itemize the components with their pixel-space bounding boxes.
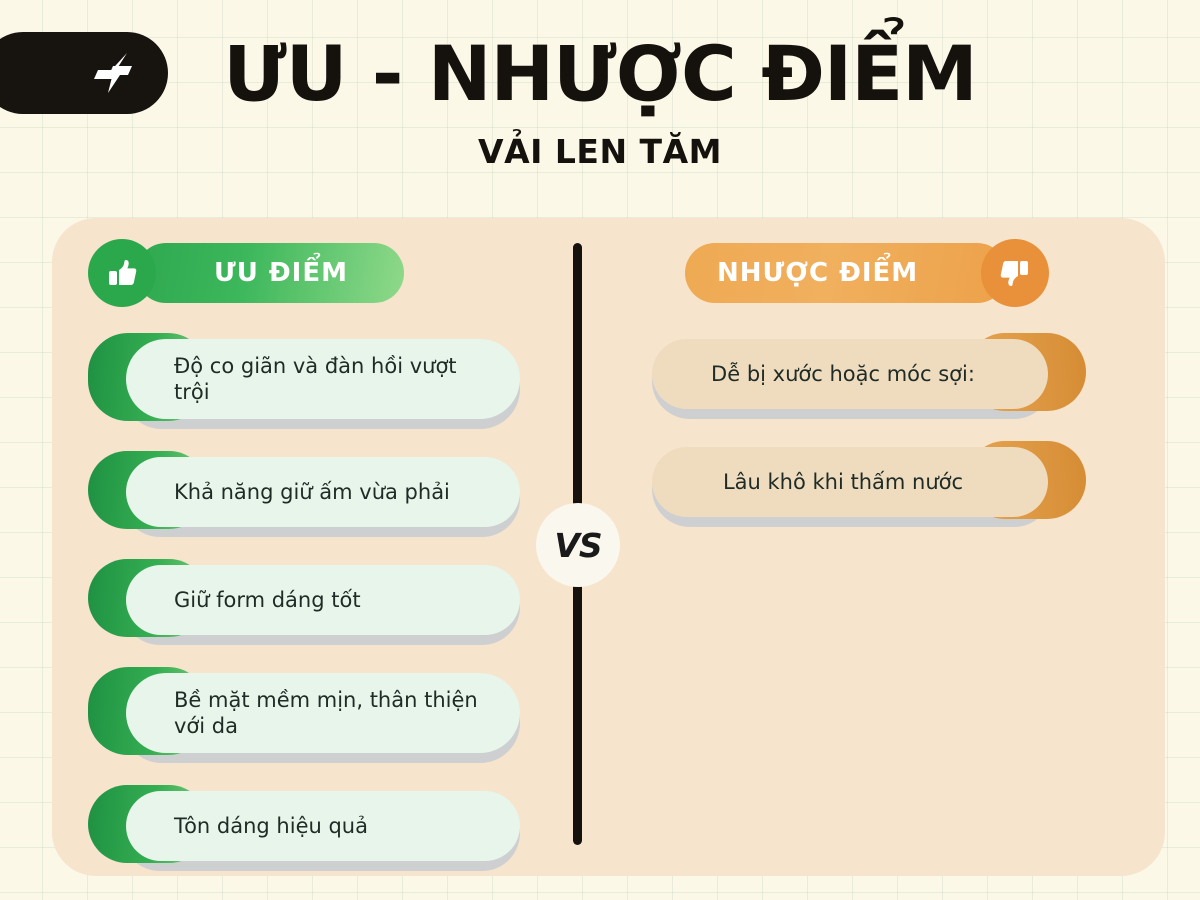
pros-item-body: Khả năng giữ ấm vừa phải — [126, 457, 520, 527]
cons-heading-badge: NHƯỢC ĐIỂM — [685, 243, 1007, 303]
cons-heading-label: NHƯỢC ĐIỂM — [717, 260, 918, 286]
page-subtitle: VẢI LEN TĂM — [0, 135, 1200, 168]
cons-item: Dễ bị xước hoặc móc sợi: — [652, 333, 1086, 411]
pros-heading-label: ƯU ĐIỂM — [214, 260, 348, 286]
cons-item: Lâu khô khi thấm nước — [652, 441, 1086, 519]
pros-item-body: Độ co giãn và đàn hồi vượt trội — [126, 339, 520, 419]
pros-item-text: Độ co giãn và đàn hồi vượt trội — [174, 353, 496, 406]
pros-item: Giữ form dáng tốt — [88, 559, 520, 637]
pros-item-text: Giữ form dáng tốt — [174, 587, 361, 613]
pros-heading-badge: ƯU ĐIỂM — [136, 243, 404, 303]
thumbs-up-icon — [88, 239, 156, 307]
pros-item: Tôn dáng hiệu quả — [88, 785, 520, 863]
vs-badge: VS — [536, 503, 620, 587]
pros-item-body: Tôn dáng hiệu quả — [126, 791, 520, 861]
cons-column: NHƯỢC ĐIỂM Dễ bị xước hoặc móc sợi: Lâu … — [652, 243, 1086, 519]
thumbs-down-icon — [981, 239, 1049, 307]
pros-item-body: Giữ form dáng tốt — [126, 565, 520, 635]
cons-item-text: Lâu khô khi thấm nước — [723, 469, 963, 495]
pros-item: Độ co giãn và đàn hồi vượt trội — [88, 333, 520, 421]
pros-item-text: Tôn dáng hiệu quả — [174, 813, 368, 839]
pros-item: Khả năng giữ ấm vừa phải — [88, 451, 520, 529]
cons-item-text: Dễ bị xước hoặc móc sợi: — [711, 361, 975, 387]
page-title: ƯU - NHƯỢC ĐIỂM — [0, 36, 1200, 112]
pros-item-text: Bề mặt mềm mịn, thân thiện với da — [174, 687, 496, 740]
pros-item-body: Bề mặt mềm mịn, thân thiện với da — [126, 673, 520, 753]
vs-label: VS — [554, 526, 601, 565]
pros-item-text: Khả năng giữ ấm vừa phải — [174, 479, 450, 505]
cons-item-body: Dễ bị xước hoặc móc sợi: — [652, 339, 1048, 409]
cons-item-body: Lâu khô khi thấm nước — [652, 447, 1048, 517]
pros-item: Bề mặt mềm mịn, thân thiện với da — [88, 667, 520, 755]
pros-column: ƯU ĐIỂM Độ co giãn và đàn hồi vượt trội … — [88, 243, 520, 863]
